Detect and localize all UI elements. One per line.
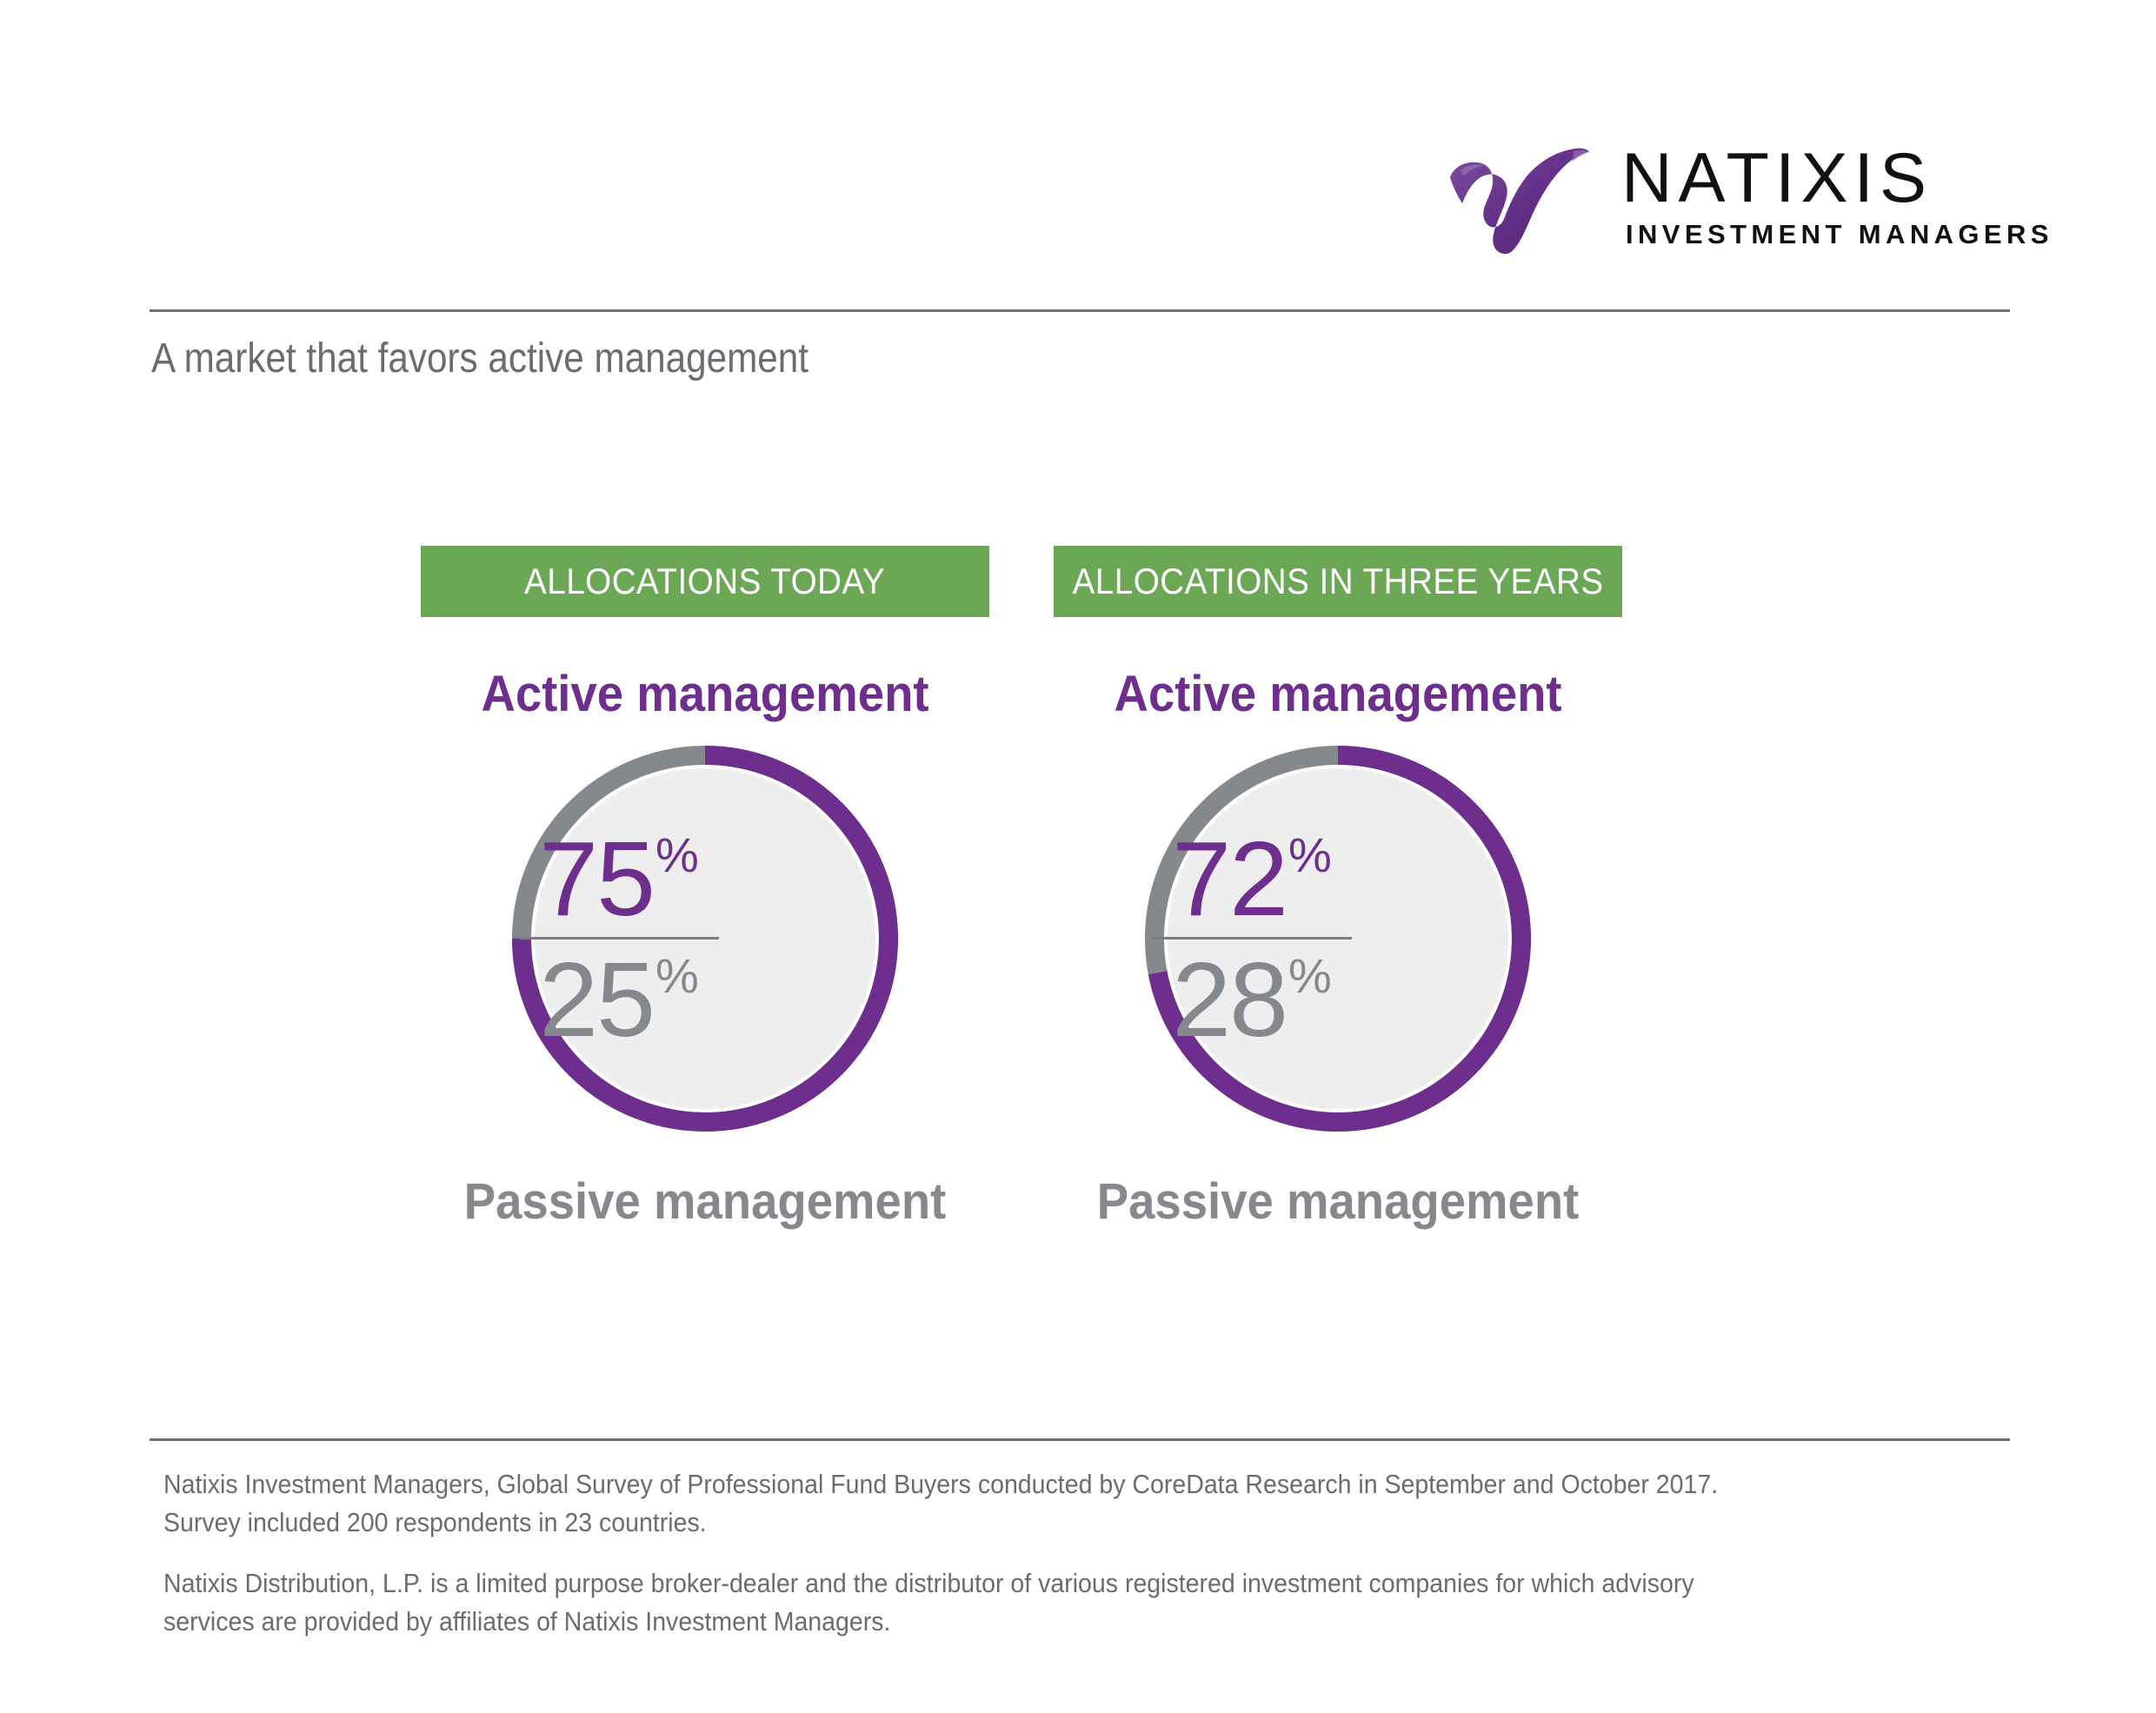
donut-center-today: 75 % 25 %	[421, 740, 817, 1137]
logo-wordmark: NATIXIS	[1621, 139, 1933, 217]
passive-value-group: 25 %	[539, 946, 699, 1052]
brand-logo: NATIXIS INVESTMENT MANAGERS	[1443, 139, 2000, 269]
active-percent-sign: %	[655, 831, 699, 880]
footnotes: Natixis Investment Managers, Global Surv…	[163, 1465, 1902, 1663]
passive-value-group: 28 %	[1172, 946, 1332, 1052]
logo-subwordmark: INVESTMENT MANAGERS	[1626, 219, 2053, 250]
active-percent-sign: %	[1288, 831, 1332, 880]
passive-value: 28	[1172, 946, 1287, 1052]
allocation-panel-three-years: ALLOCATIONS IN THREE YEARS Active manage…	[1054, 546, 1622, 1229]
footer-divider	[150, 1438, 2010, 1441]
donut-chart-today: 75 % 25 %	[421, 740, 989, 1149]
active-value: 72	[1172, 826, 1287, 932]
active-management-label: Active management	[438, 667, 973, 721]
footnote-disclosure: Natixis Distribution, L.P. is a limited …	[163, 1564, 1763, 1641]
panel-header-three-years: ALLOCATIONS IN THREE YEARS	[1054, 546, 1622, 617]
active-value: 75	[539, 826, 654, 932]
active-management-label: Active management	[1071, 667, 1606, 721]
active-value-group: 75 %	[539, 826, 699, 932]
donut-chart-three-years: 72 % 28 %	[1054, 740, 1622, 1149]
passive-management-label: Passive management	[1071, 1175, 1606, 1229]
passive-percent-sign: %	[1288, 952, 1332, 1000]
fraction-divider	[1152, 937, 1352, 939]
passive-percent-sign: %	[655, 952, 699, 1000]
allocation-panel-today: ALLOCATIONS TODAY Active management 75 %…	[421, 546, 989, 1229]
page-title: A market that favors active management	[151, 335, 808, 382]
fraction-divider	[519, 937, 719, 939]
natixis-brushstroke-v-icon	[1443, 146, 1617, 255]
panel-header-label: ALLOCATIONS TODAY	[524, 561, 885, 602]
panel-header-today: ALLOCATIONS TODAY	[421, 546, 989, 617]
active-value-group: 72 %	[1172, 826, 1332, 932]
footnote-source: Natixis Investment Managers, Global Surv…	[163, 1465, 1763, 1542]
donut-center-three-years: 72 % 28 %	[1054, 740, 1450, 1137]
passive-value: 25	[539, 946, 654, 1052]
passive-management-label: Passive management	[438, 1175, 973, 1229]
panel-header-label: ALLOCATIONS IN THREE YEARS	[1072, 561, 1603, 602]
header-divider	[150, 309, 2010, 312]
